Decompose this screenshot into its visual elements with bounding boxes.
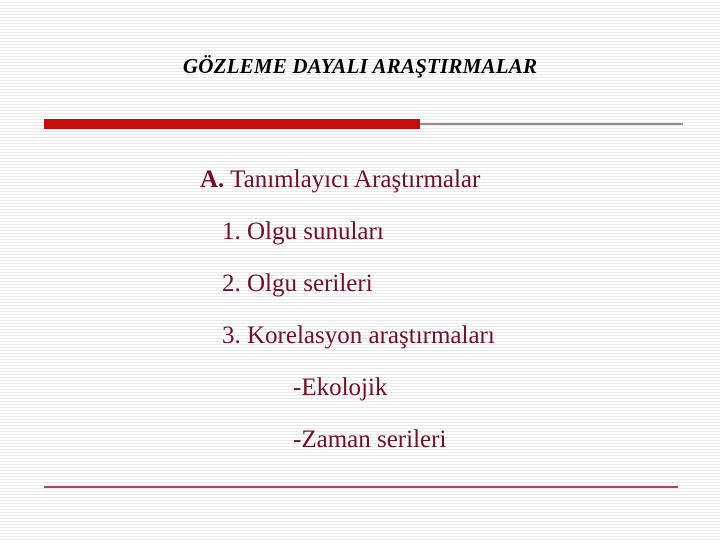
content-list: A. Tanımlayıcı Araştırmalar 1. Olgu sunu…	[0, 160, 720, 472]
list-item: 3. Korelasyon araştırmaları	[0, 316, 720, 368]
bottom-divider	[44, 486, 678, 488]
list-item-label: 2. Olgu serileri	[222, 270, 373, 297]
list-item-label: Tanımlayıcı Araştırmalar	[224, 166, 480, 193]
list-item: 1. Olgu sunuları	[0, 212, 720, 264]
list-item: -Zaman serileri	[0, 420, 720, 472]
list-item: A. Tanımlayıcı Araştırmalar	[0, 160, 720, 212]
divider-accent-bar	[44, 119, 420, 129]
list-item-label: 1. Olgu sunuları	[222, 218, 384, 245]
list-item: 2. Olgu serileri	[0, 264, 720, 316]
list-item: -Ekolojik	[0, 368, 720, 420]
list-item-marker: A.	[200, 166, 224, 193]
title-divider	[44, 119, 683, 129]
presentation-slide: GÖZLEME DAYALI ARAŞTIRMALAR A. Tanımlayı…	[0, 0, 720, 540]
title-block: GÖZLEME DAYALI ARAŞTIRMALAR	[0, 54, 720, 79]
page-title: GÖZLEME DAYALI ARAŞTIRMALAR	[183, 54, 537, 79]
list-item-label: -Zaman serileri	[293, 426, 446, 453]
list-item-label: 3. Korelasyon araştırmaları	[222, 322, 495, 349]
list-item-label: -Ekolojik	[293, 374, 387, 401]
